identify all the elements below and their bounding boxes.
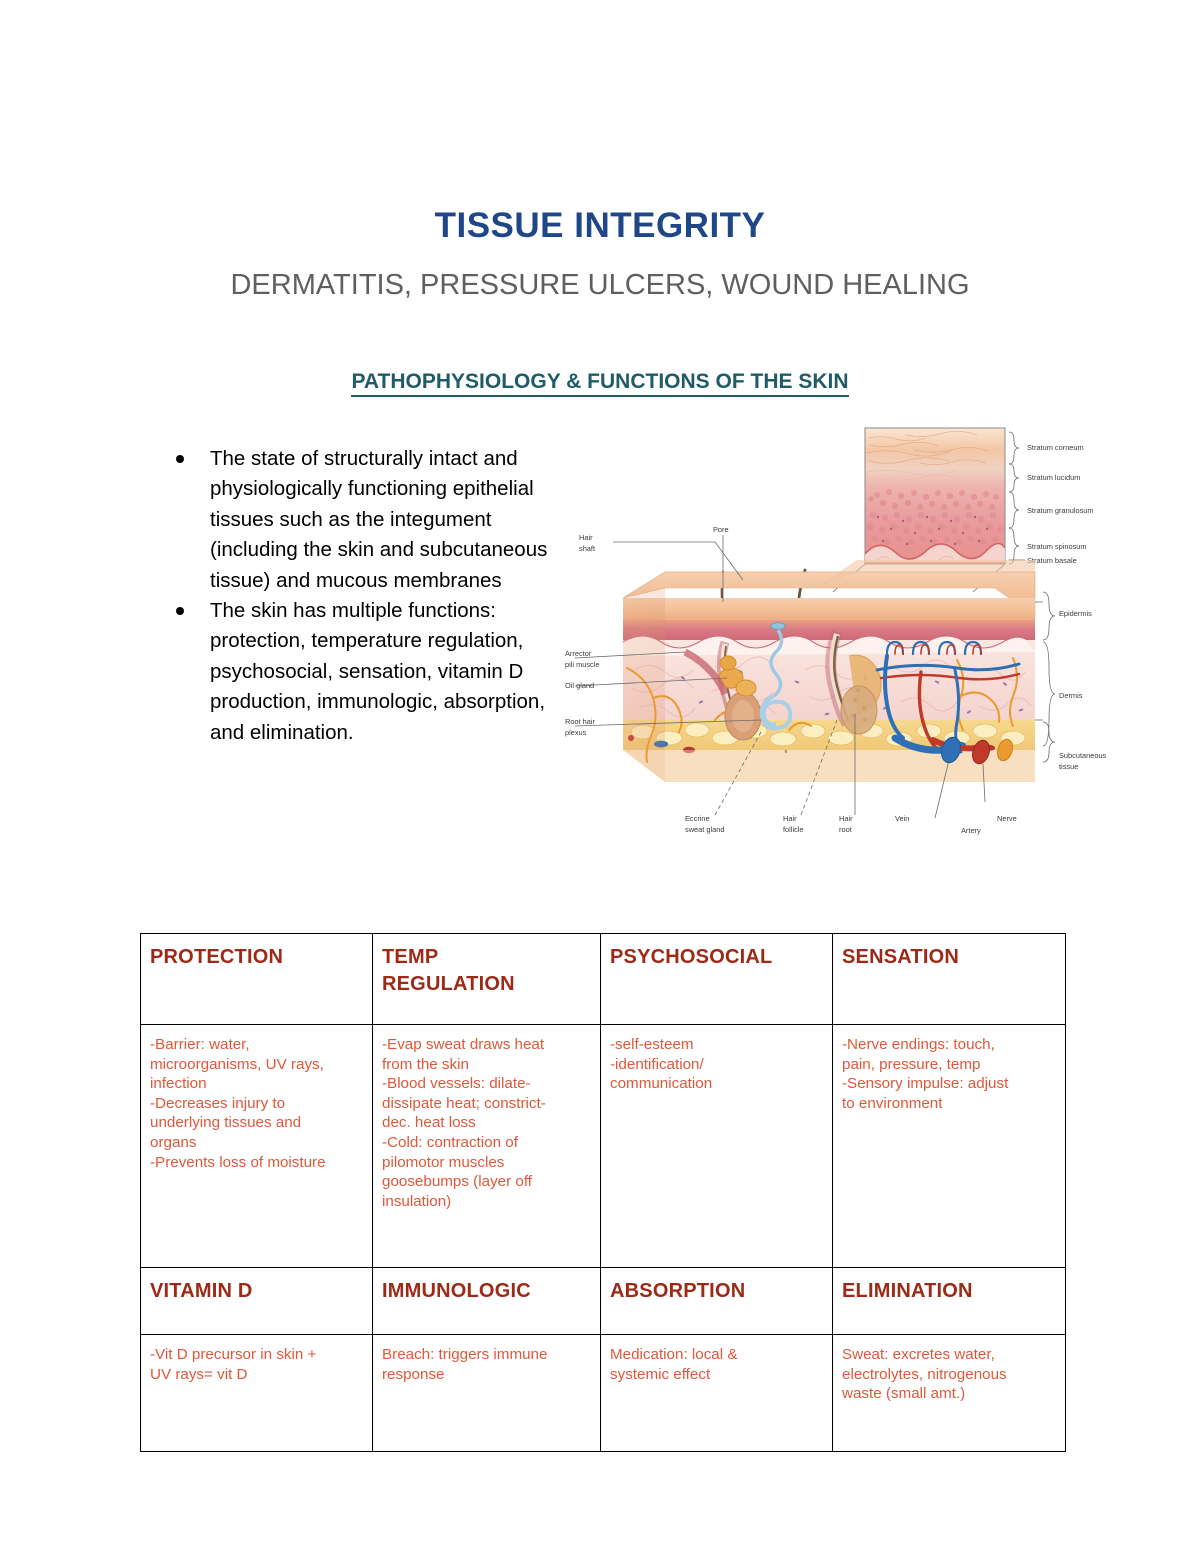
table-cell-text: Medication: local & systemic effect <box>610 1345 824 1384</box>
table-body-cell: Medication: local & systemic effect <box>601 1335 833 1452</box>
inset-braces <box>1009 432 1025 564</box>
table-header-cell: VITAMIN D <box>141 1268 373 1335</box>
diagram-label: Vein <box>895 814 909 823</box>
table-body-cell: -Evap sweat draws heat from the skin -Bl… <box>373 1025 601 1268</box>
table-header-text: PROTECTION <box>150 944 364 971</box>
diagram-label: Eccrine <box>685 814 710 823</box>
table-header-text: TEMP REGULATION <box>382 944 592 998</box>
table-cell-text: Sweat: excretes water, electrolytes, nit… <box>842 1345 1057 1404</box>
table-cell-text: -Evap sweat draws heat from the skin -Bl… <box>382 1035 592 1211</box>
diagram-label: Nerve <box>997 814 1017 823</box>
table-header-cell: IMMUNOLOGIC <box>373 1268 601 1335</box>
table-row: VITAMIN D IMMUNOLOGIC ABSORPTION ELIMINA… <box>141 1268 1066 1335</box>
table-header-text: ABSORPTION <box>610 1278 824 1305</box>
table-header-cell: ELIMINATION <box>833 1268 1066 1335</box>
table-header-cell: SENSATION <box>833 934 1066 1025</box>
table-header-text: SENSATION <box>842 944 1057 971</box>
skin-cross-section-diagram: Stratum corneum Stratum lucidum Stratum … <box>565 420 1185 840</box>
diagram-label: Hair <box>839 814 853 823</box>
table-cell-text: -Vit D precursor in skin + UV rays= vit … <box>150 1345 364 1384</box>
diagram-label: pili muscle <box>565 660 600 669</box>
diagram-label: Root hair <box>565 717 596 726</box>
table-body-cell: Breach: triggers immune response <box>373 1335 601 1452</box>
table-body-cell: -Barrier: water, microorganisms, UV rays… <box>141 1025 373 1268</box>
document-page: TISSUE INTEGRITY DERMATITIS, PRESSURE UL… <box>0 0 1200 1553</box>
inset-label: Stratum granulosum <box>1027 506 1094 515</box>
inset-label: Stratum spinosum <box>1027 542 1087 551</box>
page-title: TISSUE INTEGRITY <box>0 206 1200 246</box>
skin-functions-table: PROTECTION TEMP REGULATION PSYCHOSOCIAL … <box>140 933 1066 1452</box>
bullet-list: The state of structurally intact and phy… <box>168 444 568 748</box>
table-header-cell: PROTECTION <box>141 934 373 1025</box>
layer-label: tissue <box>1059 762 1078 771</box>
table-header-cell: PSYCHOSOCIAL <box>601 934 833 1025</box>
page-subtitle: DERMATITIS, PRESSURE ULCERS, WOUND HEALI… <box>0 269 1200 302</box>
table-body-cell: Sweat: excretes water, electrolytes, nit… <box>833 1335 1066 1452</box>
bullet-dot-icon <box>176 455 184 463</box>
table-header-text: ELIMINATION <box>842 1278 1057 1305</box>
table-cell-text: Breach: triggers immune response <box>382 1345 592 1384</box>
table-header-text: PSYCHOSOCIAL <box>610 944 824 971</box>
table-header-cell: ABSORPTION <box>601 1268 833 1335</box>
table-body-cell: -self-esteem -identification/ communicat… <box>601 1025 833 1268</box>
table-cell-text: -self-esteem -identification/ communicat… <box>610 1035 824 1094</box>
diagram-label: Artery <box>961 826 981 835</box>
section-heading: PATHOPHYSIOLOGY & FUNCTIONS OF THE SKIN <box>0 370 1200 394</box>
diagram-label: plexus <box>565 728 587 737</box>
diagram-label: Arrector <box>565 649 592 658</box>
layer-label: Dermis <box>1059 691 1083 700</box>
diagram-label: shaft <box>579 544 595 553</box>
diagram-label: Hair <box>579 533 593 542</box>
diagram-label: Oil gland <box>565 681 594 690</box>
list-item: The state of structurally intact and phy… <box>168 444 568 596</box>
table-body-cell: -Vit D precursor in skin + UV rays= vit … <box>141 1335 373 1452</box>
diagram-label: root <box>839 825 852 834</box>
table-row: -Barrier: water, microorganisms, UV rays… <box>141 1025 1066 1268</box>
table-row: PROTECTION TEMP REGULATION PSYCHOSOCIAL … <box>141 934 1066 1025</box>
list-item: The skin has multiple functions: protect… <box>168 596 568 748</box>
layer-label: Epidermis <box>1059 609 1092 618</box>
inset-label: Stratum lucidum <box>1027 473 1080 482</box>
table-header-text: IMMUNOLOGIC <box>382 1278 592 1305</box>
list-item-text: The skin has multiple functions: protect… <box>210 599 545 744</box>
inset-label: Stratum corneum <box>1027 443 1084 452</box>
diagram-label: follicle <box>783 825 804 834</box>
layer-braces <box>1035 592 1055 762</box>
list-item-text: The state of structurally intact and phy… <box>210 447 547 592</box>
diagram-label: Pore <box>713 525 729 534</box>
table-header-cell: TEMP REGULATION <box>373 934 601 1025</box>
table-body-cell: -Nerve endings: touch, pain, pressure, t… <box>833 1025 1066 1268</box>
table-header-text: VITAMIN D <box>150 1278 364 1305</box>
table-cell-text: -Barrier: water, microorganisms, UV rays… <box>150 1035 364 1172</box>
table-row: -Vit D precursor in skin + UV rays= vit … <box>141 1335 1066 1452</box>
diagram-label: Hair <box>783 814 797 823</box>
section-heading-text: PATHOPHYSIOLOGY & FUNCTIONS OF THE SKIN <box>351 370 848 397</box>
layer-label: Subcutaneous <box>1059 751 1107 760</box>
table-cell-text: -Nerve endings: touch, pain, pressure, t… <box>842 1035 1057 1113</box>
diagram-label: sweat gland <box>685 825 724 834</box>
bullet-dot-icon <box>176 607 184 615</box>
